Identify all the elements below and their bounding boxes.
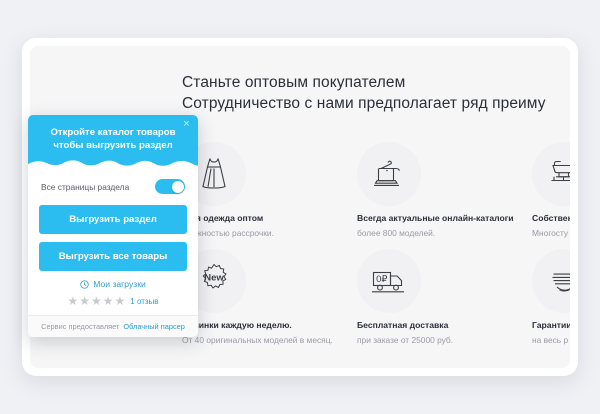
- star-icon: ★: [115, 295, 126, 307]
- all-pages-toggle-label: Все страницы раздела: [41, 182, 129, 192]
- feature-title: Всегда актуальные онлайн-каталоги: [357, 212, 532, 224]
- all-pages-toggle-row: Все страницы раздела: [39, 177, 187, 194]
- feature-card: Собствен Многосту: [532, 132, 570, 239]
- feature-card: 0₽ Бесплатная доставка при заказе от 250…: [357, 239, 532, 346]
- popup-title-line-1: Откройте каталог товаров: [38, 126, 188, 139]
- wave-divider: [28, 159, 198, 168]
- history-clock-icon: [80, 280, 89, 289]
- feature-subtitle: более 800 моделей.: [357, 227, 532, 239]
- star-icon: ★: [103, 295, 114, 307]
- feature-title: ская одежда оптом: [182, 212, 357, 224]
- popup-header: × Откройте каталог товаров чтобы выгрузи…: [28, 115, 198, 167]
- review-count-label[interactable]: 1 отзыв: [130, 297, 158, 306]
- page-headline: Станьте оптовым покупателем Сотрудничест…: [182, 72, 566, 114]
- headline-line-1: Станьте оптовым покупателем: [182, 72, 566, 93]
- feature-title: Гарантии: [532, 319, 570, 331]
- footer-provider-link[interactable]: Облачный парсер: [123, 322, 184, 331]
- feature-card: Гарантии на весь р: [532, 239, 570, 346]
- export-all-products-button[interactable]: Выгрузить все товары: [39, 242, 187, 271]
- feature-subtitle: при заказе от 25000 руб.: [357, 334, 532, 346]
- toggle-knob: [172, 181, 184, 193]
- close-icon[interactable]: ×: [180, 118, 193, 131]
- delivery-truck-icon: 0₽: [357, 249, 421, 313]
- footer-provider-label: Сервис предоставляет: [41, 322, 119, 331]
- headline-line-2: Сотрудничество с нами предполагает ряд п…: [182, 93, 566, 114]
- star-icon: ★: [79, 295, 90, 307]
- star-icon: ★: [91, 295, 102, 307]
- export-section-button[interactable]: Выгрузить раздел: [39, 205, 187, 234]
- feature-card: Всегда актуальные онлайн-каталоги более …: [357, 132, 532, 239]
- feature-title: Новинки каждую неделю.: [182, 319, 357, 331]
- svg-text:0₽: 0₽: [376, 274, 388, 285]
- star-icon: ★: [67, 295, 78, 307]
- popup-title-line-2: чтобы выгрузить раздел: [38, 139, 188, 152]
- feature-subtitle: От 40 оригинальных моделей в месяц.: [182, 334, 357, 346]
- feature-subtitle: Многосту: [532, 227, 570, 239]
- my-downloads-label: Мои загрузки: [93, 279, 146, 289]
- feature-title: Бесплатная доставка: [357, 319, 532, 331]
- feature-subtitle: на весь р: [532, 334, 570, 346]
- feature-title: Собствен: [532, 212, 570, 224]
- feature-subtitle: зможностью рассрочки.: [182, 227, 357, 239]
- svg-text:New: New: [204, 273, 224, 284]
- features-grid: ская одежда оптом зможностью рассрочки.: [182, 132, 570, 346]
- popup-body: Все страницы раздела Выгрузить раздел Вы…: [28, 167, 198, 315]
- feature-card: ская одежда оптом зможностью рассрочки.: [182, 132, 357, 239]
- extension-popup: × Откройте каталог товаров чтобы выгрузи…: [28, 115, 198, 337]
- features-row-bottom: New Новинки каждую неделю. От 40 оригина…: [182, 239, 570, 346]
- laptop-hanger-icon: [357, 142, 421, 206]
- my-downloads-link[interactable]: Мои загрузки: [39, 279, 187, 289]
- rating-row: ★ ★ ★ ★ ★ 1 отзыв: [39, 295, 187, 307]
- popup-footer: Сервис предоставляет Облачный парсер: [28, 315, 198, 337]
- feature-card: New Новинки каждую неделю. От 40 оригина…: [182, 239, 357, 346]
- sewing-machine-icon: [532, 142, 570, 206]
- fabric-rolls-icon: [532, 249, 570, 313]
- star-rating[interactable]: ★ ★ ★ ★ ★: [67, 295, 125, 307]
- all-pages-toggle[interactable]: [155, 179, 185, 194]
- features-row-top: ская одежда оптом зможностью рассрочки.: [182, 132, 570, 239]
